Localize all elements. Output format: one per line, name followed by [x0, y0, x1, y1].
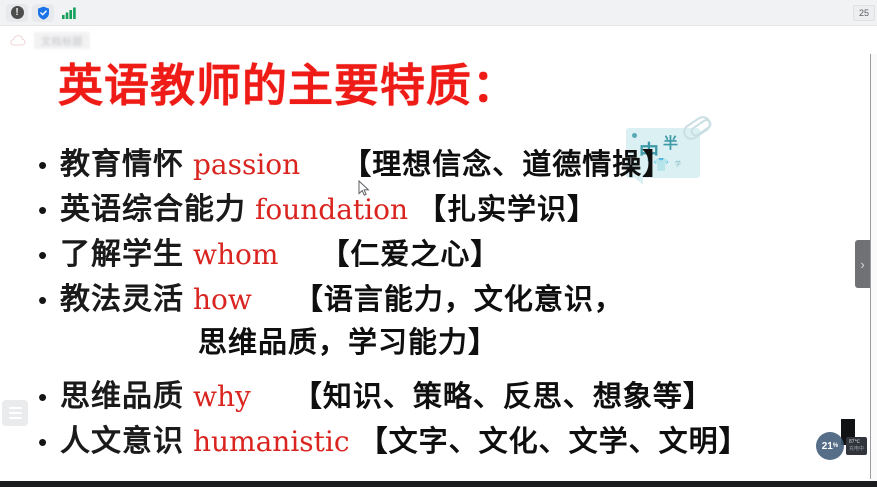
trait-english-6: humanistic — [193, 425, 350, 458]
percent-symbol: % — [833, 443, 838, 449]
temperature-value: 87℃ — [849, 439, 860, 446]
list-item: • 教法灵活 how 【语言能力，文化意识， — [0, 274, 877, 319]
trait-chinese-4: 教法灵活 — [60, 274, 184, 318]
trait-chinese-5: 思维品质 — [60, 371, 184, 415]
trait-bracket-6: 【文字、文化、文学、文明】 — [359, 418, 749, 460]
bullet-icon: • — [38, 287, 60, 313]
trait-english-4: how — [193, 283, 252, 316]
cloud-icon — [10, 35, 26, 46]
temperature-badge: 87℃ 充电中 — [846, 437, 867, 455]
list-item: • 人文意识 humanistic 【文字、文化、文学、文明】 — [0, 416, 877, 461]
info-icon-button[interactable]: ! — [6, 4, 28, 22]
right-border-line — [870, 26, 871, 479]
trait-bracket-4: 【语言能力，文化意识， — [294, 276, 624, 318]
charging-status: 充电中 — [849, 446, 864, 453]
slide-title-row: 英语教师的主要特质： — [58, 60, 518, 112]
menu-bar-3 — [9, 417, 22, 419]
battery-percent-value: 21 — [822, 441, 833, 452]
bullet-icon: • — [38, 429, 60, 455]
bullet-icon: • — [38, 197, 60, 223]
list-item: • 了解学生 whom 【仁爱之心】 — [0, 229, 877, 274]
shield-icon — [37, 6, 50, 20]
trait-english-3: whom — [193, 238, 278, 271]
menu-bar-2 — [9, 412, 22, 414]
left-drawer-handle[interactable] — [2, 400, 28, 426]
list-item-continuation: 思维品质，学习能力】 — [0, 319, 877, 364]
bottom-strip — [0, 481, 877, 487]
trait-chinese-6: 人文意识 — [60, 416, 184, 460]
shield-icon-button[interactable] — [32, 4, 54, 22]
trait-chinese-2: 英语综合能力 — [60, 184, 246, 228]
right-panel-expander[interactable]: › — [855, 240, 870, 288]
trait-english-5: why — [193, 380, 251, 413]
trait-bracket-5: 【知识、策略、反思、想象等】 — [293, 373, 713, 415]
trait-bracket-3: 【仁爱之心】 — [320, 231, 500, 273]
bullet-list: • 教育情怀 passion 【理想信念、道德情操】 • 英语综合能力 foun… — [0, 139, 877, 461]
right-gutter — [871, 26, 877, 487]
browser-chrome-bar: ! 25 — [0, 0, 877, 26]
bullet-icon: • — [38, 152, 60, 178]
page-title: 英语教师的主要特质： — [58, 60, 518, 112]
info-icon: ! — [11, 6, 24, 19]
signal-bars-icon — [62, 7, 76, 19]
bullet-icon: • — [38, 384, 60, 410]
list-item: • 思维品质 why 【知识、策略、反思、想象等】 — [0, 371, 877, 416]
trait-chinese-3: 了解学生 — [60, 229, 184, 273]
screen-root: ! 25 文档标题 英语教师的主要特质： — [0, 0, 877, 487]
sticky-note-dot — [632, 133, 637, 138]
battery-percent-badge: 21% — [816, 432, 844, 460]
slide-content: 英语教师的主要特质： 中 半 👕 学 • 教育情怀 passion 【理想信念、… — [0, 54, 877, 479]
list-item: • 教育情怀 passion 【理想信念、道德情操】 — [0, 139, 877, 184]
menu-bar-1 — [9, 407, 22, 409]
document-title-blurred: 文档标题 — [34, 32, 90, 49]
document-subbar: 文档标题 — [0, 26, 877, 54]
status-widget[interactable]: 21% 87℃ 充电中 — [816, 432, 867, 460]
mouse-cursor — [358, 180, 370, 197]
bullet-icon: • — [38, 242, 60, 268]
trait-bracket-2: 【扎实学识】 — [417, 186, 597, 228]
trait-chinese-1: 教育情怀 — [60, 139, 184, 183]
trait-bracket-4-continued: 思维品质，学习能力】 — [198, 319, 498, 361]
trait-bracket-1: 【理想信念、道德情操】 — [342, 141, 672, 183]
signal-icon-button[interactable] — [58, 4, 80, 22]
page-number-indicator[interactable]: 25 — [853, 5, 875, 21]
trait-english-2: foundation — [255, 193, 408, 226]
trait-english-1: passion — [193, 148, 300, 181]
list-item: • 英语综合能力 foundation 【扎实学识】 — [0, 184, 877, 229]
